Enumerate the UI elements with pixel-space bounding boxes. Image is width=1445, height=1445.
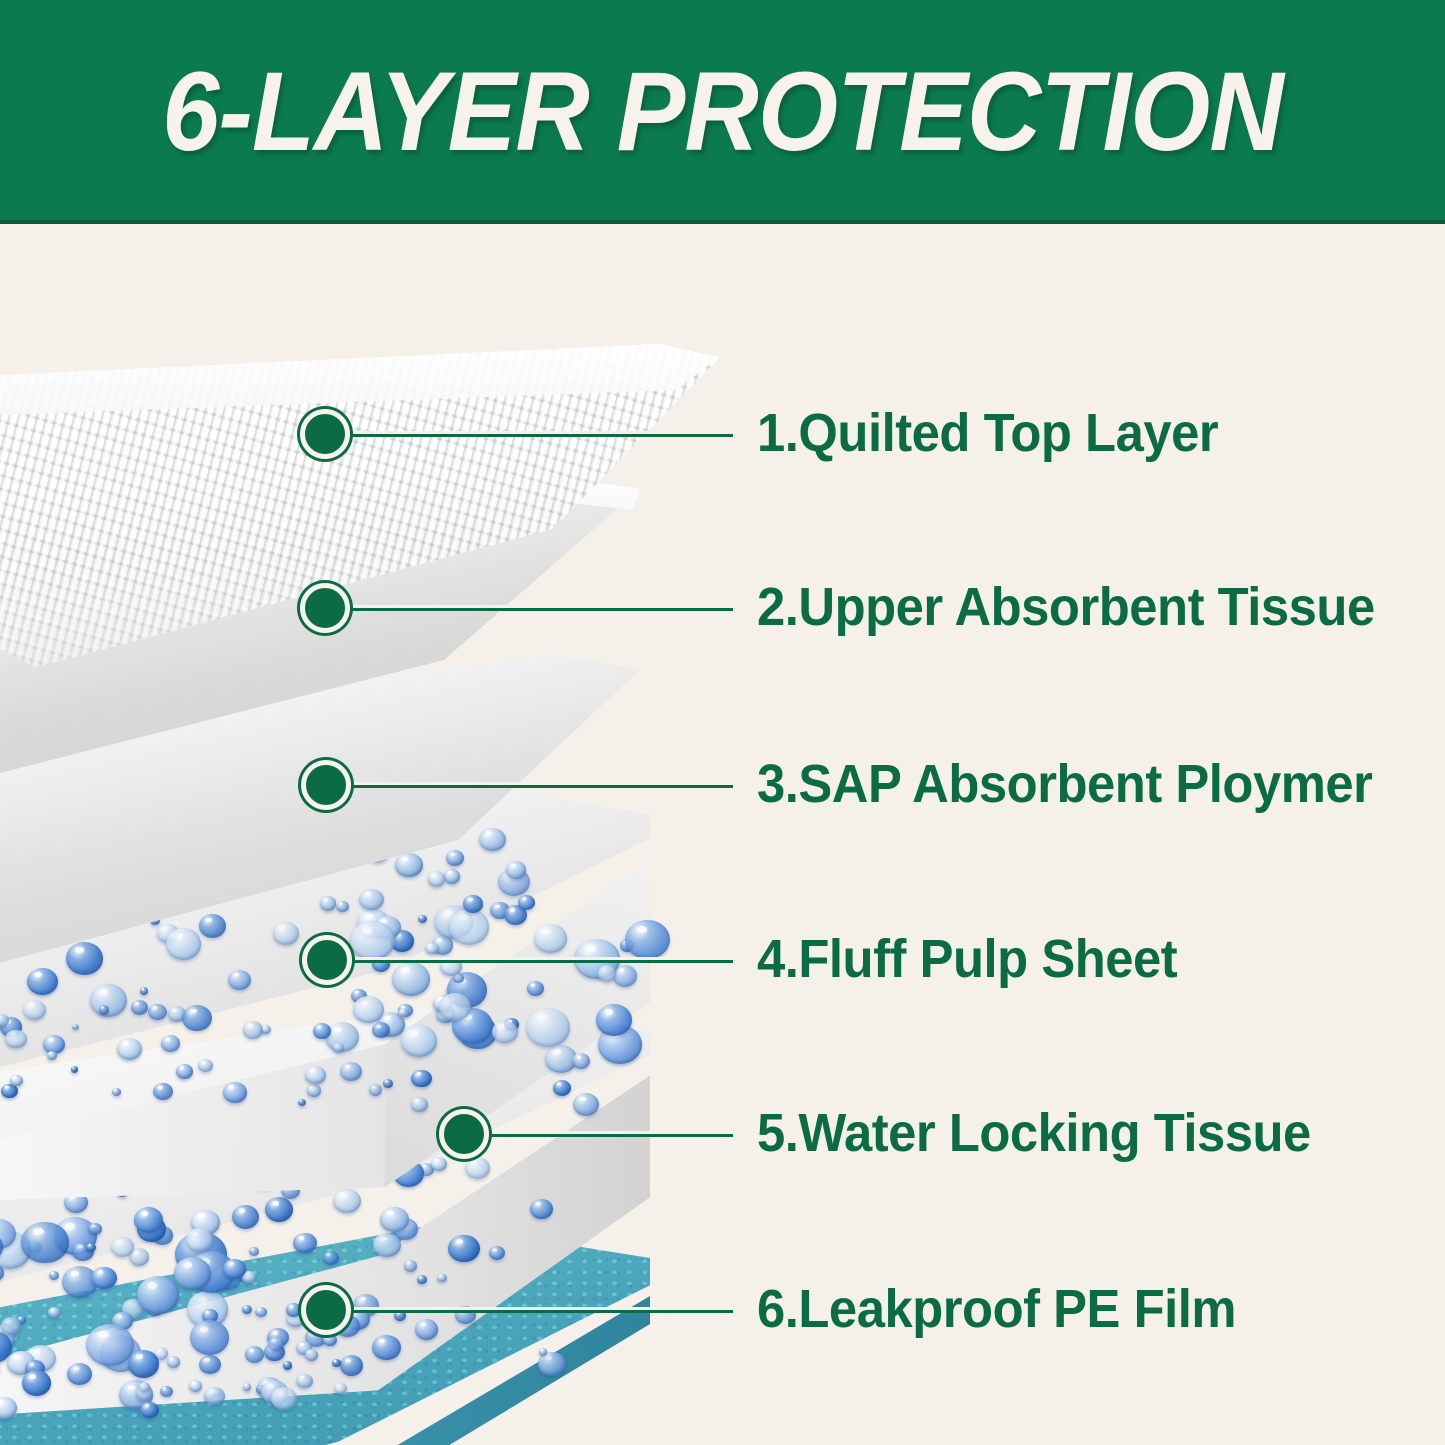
water-droplet	[189, 1380, 202, 1392]
water-droplet	[380, 1207, 409, 1232]
water-droplet	[223, 1082, 246, 1103]
water-droplet	[111, 1237, 134, 1257]
water-droplet	[49, 1271, 60, 1280]
water-droplet	[72, 1024, 79, 1030]
water-droplet	[190, 1320, 229, 1354]
leader-line-quilted-top-layer	[345, 434, 733, 437]
water-droplet	[198, 1059, 213, 1072]
callout-dot-leakproof-pe-film[interactable]	[301, 1285, 351, 1335]
water-droplet	[182, 1005, 212, 1031]
header-banner: 6-LAYER PROTECTION	[0, 0, 1445, 224]
water-droplet	[128, 1350, 159, 1378]
callout-dot-upper-absorbent-tissue[interactable]	[300, 583, 350, 633]
water-droplet	[334, 1383, 347, 1394]
water-droplet	[437, 1274, 446, 1282]
callout-dot-water-locking-tissue[interactable]	[439, 1109, 489, 1159]
water-droplet	[539, 1348, 548, 1356]
layer-label-water-locking-tissue: 5.Water Locking Tissue	[757, 1106, 1311, 1160]
water-droplet	[293, 1233, 316, 1254]
water-droplet	[404, 1260, 418, 1272]
water-droplet	[223, 1259, 246, 1279]
leader-line-leakproof-pe-film	[346, 1310, 733, 1313]
layer-label-quilted-top-layer: 1.Quilted Top Layer	[757, 406, 1218, 460]
water-droplet	[411, 1097, 428, 1112]
water-droplet	[372, 1335, 401, 1361]
water-droplet	[296, 1374, 313, 1389]
water-droplet	[174, 1257, 211, 1289]
water-droplet	[353, 996, 384, 1023]
water-droplet	[526, 1008, 570, 1047]
water-droplet	[0, 1397, 17, 1419]
water-droplet	[99, 1005, 110, 1014]
layer-label-upper-absorbent-tissue: 2.Upper Absorbent Tissue	[757, 580, 1375, 634]
layer-label-leakproof-pe-film: 6.Leakproof PE Film	[757, 1282, 1236, 1336]
page-title: 6-LAYER PROTECTION	[58, 56, 1387, 168]
water-droplet	[134, 1207, 163, 1232]
leader-line-sap-absorbent-polymer	[346, 785, 733, 788]
water-droplet	[313, 1023, 331, 1039]
infographic-page: 6-LAYER PROTECTION	[0, 0, 1445, 1445]
layer-label-fluff-pulp-sheet: 4.Fluff Pulp Sheet	[757, 932, 1177, 986]
water-droplet	[71, 1066, 79, 1073]
water-droplet	[21, 1222, 69, 1264]
water-droplet	[369, 1084, 382, 1096]
callout-dot-sap-absorbent-polymer[interactable]	[301, 760, 351, 810]
water-droplet	[572, 1053, 590, 1069]
water-droplet	[117, 1038, 142, 1060]
water-droplet	[271, 1387, 297, 1410]
water-droplet	[167, 1356, 180, 1368]
water-droplet	[411, 1070, 431, 1088]
water-droplet	[232, 1205, 260, 1229]
water-droplet	[243, 1383, 251, 1390]
water-droplet	[553, 1080, 571, 1096]
water-droplet	[160, 1386, 173, 1397]
leader-line-upper-absorbent-tissue	[345, 608, 733, 611]
water-droplet	[383, 1079, 393, 1088]
water-droplet	[298, 1099, 306, 1106]
water-droplet	[48, 1307, 61, 1318]
water-droplet	[137, 1276, 179, 1313]
water-droplet	[249, 1247, 258, 1255]
water-droplet	[47, 1051, 57, 1060]
water-droplet	[439, 993, 471, 1021]
water-droplet	[10, 1075, 23, 1086]
callout-dot-quilted-top-layer[interactable]	[300, 409, 350, 459]
water-droplet	[140, 987, 148, 994]
water-droplet	[140, 1402, 159, 1418]
water-droplet	[323, 1334, 337, 1346]
callout-dot-fluff-pulp-sheet[interactable]	[302, 935, 352, 985]
water-droplet	[176, 1064, 193, 1079]
water-droplet	[186, 1228, 213, 1252]
water-droplet	[243, 1021, 262, 1038]
water-droplet	[323, 1251, 339, 1265]
water-droplet	[88, 1223, 101, 1235]
water-droplet	[139, 1382, 150, 1392]
water-droplet	[204, 1387, 225, 1405]
water-droplet	[283, 1361, 293, 1369]
water-droplet	[112, 1088, 120, 1095]
water-droplet	[1, 1084, 18, 1099]
layer-stack-illustration: 1.Quilted Top Layer2.Upper Absorbent Tis…	[0, 224, 1445, 1445]
layer-1-quilted-top-layer	[0, 344, 720, 674]
water-droplet	[573, 1093, 599, 1116]
water-droplet	[305, 1349, 318, 1361]
leader-line-water-locking-tissue	[484, 1134, 733, 1137]
water-droplet	[22, 1370, 51, 1396]
water-droplet	[5, 1030, 26, 1049]
water-droplet	[91, 1267, 116, 1289]
water-droplet	[1, 1317, 22, 1335]
water-droplet	[148, 1004, 167, 1020]
water-droplet	[307, 1084, 321, 1096]
water-droplet	[286, 1303, 302, 1317]
water-droplet	[161, 1035, 180, 1051]
water-droplet	[340, 1062, 362, 1082]
water-droplet	[333, 1043, 344, 1053]
water-droplet	[492, 1021, 517, 1043]
water-droplet	[448, 1235, 480, 1263]
leader-line-fluff-pulp-sheet	[347, 960, 733, 963]
water-droplet	[401, 1025, 437, 1056]
water-droplet	[305, 1066, 326, 1084]
layer-label-sap-absorbent-polymer: 3.SAP Absorbent Ploymer	[757, 757, 1372, 811]
